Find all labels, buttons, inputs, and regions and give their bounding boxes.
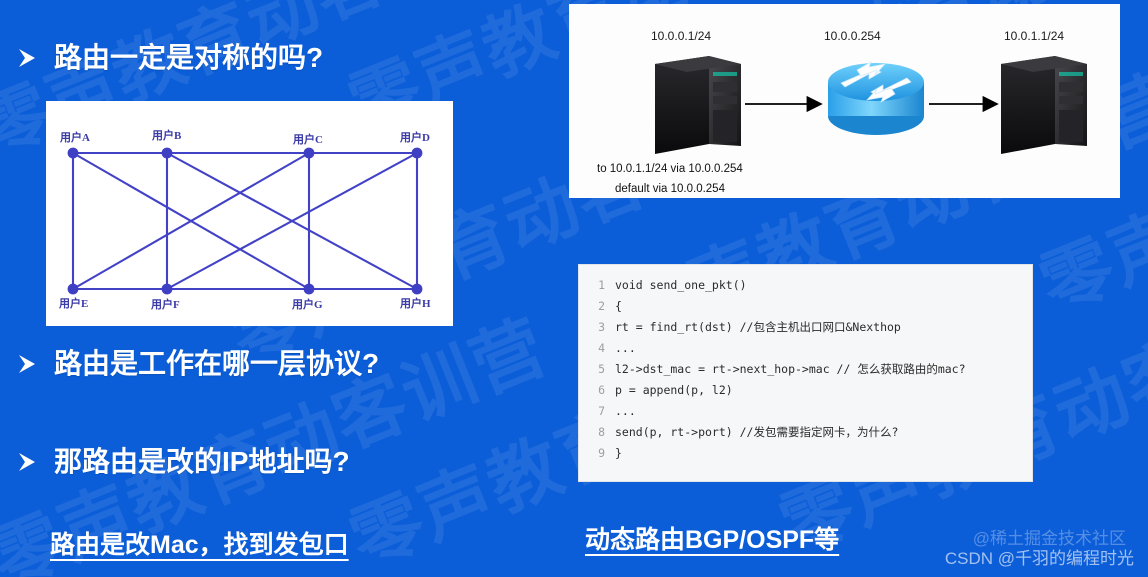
graph-node-label: 用户A xyxy=(60,130,90,144)
topo-label-host-right: 10.0.1.1/24 xyxy=(1004,29,1064,43)
chevron-right-icon xyxy=(16,449,38,475)
graph-nodes xyxy=(68,148,423,295)
graph-node-label: 用户H xyxy=(400,296,431,310)
topo-label-host-left: 10.0.0.1/24 xyxy=(651,29,711,43)
code-line: 5l2->dst_mac = rt->next_hop->mac // 怎么获取… xyxy=(579,359,1032,380)
graph-node xyxy=(68,148,79,159)
server-icon-left xyxy=(655,56,741,154)
code-line: 4... xyxy=(579,338,1032,359)
answer-dynamic-routing-text: 动态路由BGP/OSPF等 xyxy=(585,520,839,556)
code-line: 3rt = find_rt(dst) //包含主机出口网口&Nexthop xyxy=(579,317,1032,338)
route-entry-0: to 10.0.1.1/24 via 10.0.0.254 xyxy=(597,163,743,175)
bullet-label: 那路由是改的IP地址吗? xyxy=(54,448,350,476)
code-line-number: 1 xyxy=(579,275,605,296)
user-topology-graph-panel: 用户A用户B用户C用户D用户E用户F用户G用户H xyxy=(46,101,453,326)
bullet-label: 路由一定是对称的吗? xyxy=(54,44,323,72)
code-line-text: p = append(p, l2) xyxy=(615,380,733,401)
code-lines: 1void send_one_pkt()2{3rt = find_rt(dst)… xyxy=(579,275,1032,464)
code-line: 1void send_one_pkt() xyxy=(579,275,1032,296)
graph-node-label: 用户E xyxy=(59,296,88,310)
routing-topology-panel: 10.0.0.1/24 10.0.0.254 10.0.1.1/24 xyxy=(569,4,1120,198)
code-line-number: 3 xyxy=(579,317,605,338)
graph-node xyxy=(68,284,79,295)
bullet-item-1: 路由一定是对称的吗? xyxy=(16,44,323,72)
graph-node xyxy=(412,148,423,159)
bullet-item-2: 路由是工作在哪一层协议? xyxy=(16,350,379,378)
bullet-item-3: 那路由是改的IP地址吗? xyxy=(16,448,350,476)
code-line-number: 2 xyxy=(579,296,605,317)
graph-node xyxy=(162,284,173,295)
code-line: 8send(p, rt->port) //发包需要指定网卡，为什么? xyxy=(579,422,1032,443)
graph-node-label: 用户B xyxy=(152,128,182,142)
bullet-label: 路由是工作在哪一层协议? xyxy=(54,350,379,378)
code-line-text: send(p, rt->port) //发包需要指定网卡，为什么? xyxy=(615,422,898,443)
graph-node-labels: 用户A用户B用户C用户D用户E用户F用户G用户H xyxy=(59,128,431,311)
code-line-number: 7 xyxy=(579,401,605,422)
code-line: 6p = append(p, l2) xyxy=(579,380,1032,401)
graph-node-label: 用户F xyxy=(151,297,180,311)
code-line-number: 6 xyxy=(579,380,605,401)
topo-label-router: 10.0.0.254 xyxy=(824,29,881,43)
graph-node-label: 用户G xyxy=(292,297,323,311)
code-line-text: ... xyxy=(615,401,636,422)
code-line-text: ... xyxy=(615,338,636,359)
code-line-number: 5 xyxy=(579,359,605,380)
code-line-text: rt = find_rt(dst) //包含主机出口网口&Nexthop xyxy=(615,317,901,338)
graph-node xyxy=(412,284,423,295)
router-icon xyxy=(828,62,924,135)
code-block-panel: 1void send_one_pkt()2{3rt = find_rt(dst)… xyxy=(578,264,1033,482)
answer-mac-text: 路由是改Mac，找到发包口 xyxy=(50,525,349,561)
chevron-right-icon xyxy=(16,45,38,71)
graph-node-label: 用户D xyxy=(400,130,430,144)
code-line: 7... xyxy=(579,401,1032,422)
graph-node-label: 用户C xyxy=(293,132,323,146)
code-line-number: 4 xyxy=(579,338,605,359)
code-line: 9} xyxy=(579,443,1032,464)
graph-node xyxy=(304,148,315,159)
code-line-number: 8 xyxy=(579,422,605,443)
code-line-text: } xyxy=(615,443,622,464)
chevron-right-icon xyxy=(16,351,38,377)
graph-node xyxy=(304,284,315,295)
csdn-watermark: CSDN @千羽的编程时光 xyxy=(945,544,1134,569)
server-icon-right xyxy=(1001,56,1087,154)
route-entry-1: default via 10.0.0.254 xyxy=(615,183,726,195)
code-line: 2{ xyxy=(579,296,1032,317)
graph-node xyxy=(162,148,173,159)
code-line-text: l2->dst_mac = rt->next_hop->mac // 怎么获取路… xyxy=(615,359,966,380)
graph-edges xyxy=(73,153,417,289)
code-line-number: 9 xyxy=(579,443,605,464)
code-line-text: { xyxy=(615,296,622,317)
code-line-text: void send_one_pkt() xyxy=(615,275,747,296)
